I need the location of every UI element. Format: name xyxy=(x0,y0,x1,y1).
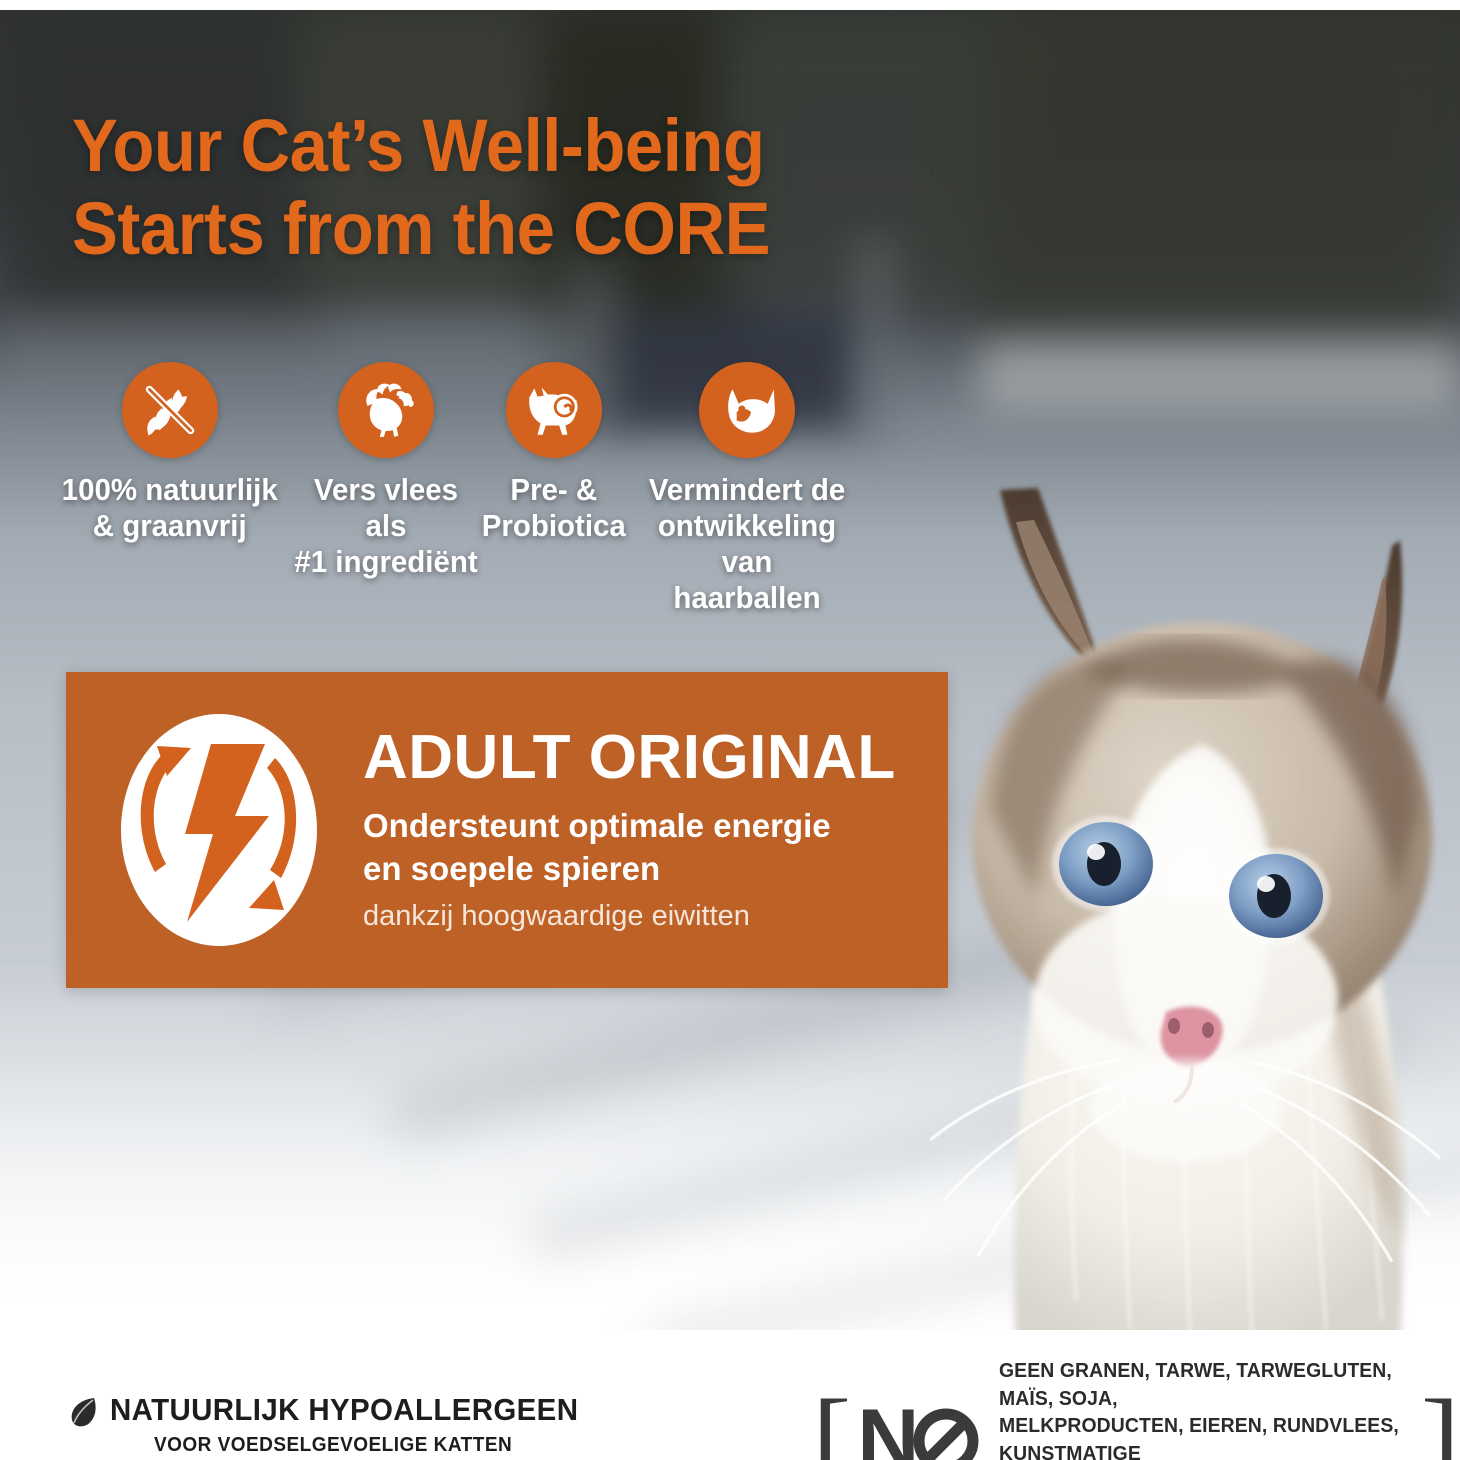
feature-item-fresh-meat: Vers vlees als #1 ingrediënt xyxy=(288,362,484,580)
feature-icon-badge xyxy=(699,362,795,458)
feature-item-hairball: Vermindert de ontwikkeling van haarballe… xyxy=(624,362,870,616)
turkey-icon xyxy=(353,377,419,443)
no-list-line-2: MELKPRODUCTEN, EIEREN, RUNDVLEES, KUNSTM… xyxy=(999,1413,1408,1460)
feature-item-probiotics: Pre- & Probiotica xyxy=(484,362,624,544)
feature-list: 100% natuurlijk & graanvrij xyxy=(52,362,1012,616)
cat-digestion-icon xyxy=(521,377,587,443)
feature-label: Vermindert de ontwikkeling van haarballe… xyxy=(630,472,864,616)
no-letter-n: N xyxy=(857,1404,917,1460)
feature-icon-badge xyxy=(122,362,218,458)
banner-logo xyxy=(119,712,319,948)
bracket-right: ] xyxy=(1421,1391,1460,1460)
banner-subtitle-line-2: en soepele spieren xyxy=(363,848,896,891)
bracket-left: [ xyxy=(812,1391,851,1460)
prohibition-icon xyxy=(913,1408,979,1460)
headline: Your Cat’s Well-being Starts from the CO… xyxy=(72,105,972,271)
banner-subtitle-line-1: Ondersteunt optimale energie xyxy=(363,805,896,848)
headline-line-1: Your Cat’s Well-being xyxy=(72,105,909,188)
hypoallergenic-title: NATUURLIJK HYPOALLERGEEN xyxy=(110,1392,578,1428)
feature-label: Vers vlees als #1 ingrediënt xyxy=(293,472,479,580)
leaf-icon xyxy=(68,1396,98,1430)
banner-note: dankzij hoogwaardige eiwitten xyxy=(363,900,896,933)
hairball-cat-icon xyxy=(714,377,780,443)
ad-canvas: Your Cat’s Well-being Starts from the CO… xyxy=(0,0,1460,1460)
no-logo: N xyxy=(857,1404,979,1460)
feature-label: 100% natuurlijk & graanvrij xyxy=(62,472,278,544)
banner-title: ADULT ORIGINAL xyxy=(363,727,896,789)
hypoallergenic-subtitle: VOOR VOEDSELGEVOELIGE KATTEN xyxy=(154,1434,512,1457)
no-ingredients-list: GEEN GRANEN, TARWE, TARWEGLUTEN, MAÏS, S… xyxy=(999,1358,1420,1460)
feature-label: Pre- & Probiotica xyxy=(482,472,626,544)
no-list-line-1: GEEN GRANEN, TARWE, TARWEGLUTEN, MAÏS, S… xyxy=(999,1358,1408,1413)
blur-shape xyxy=(980,10,1460,330)
hypoallergenic-block: NATUURLIJK HYPOALLERGEEN xyxy=(68,1392,603,1430)
no-ingredients-badge: [ N GEEN GRANEN, TARWE, TARWEGLUTEN, MAÏ… xyxy=(812,1358,1460,1460)
grain-free-icon xyxy=(137,377,203,443)
feature-icon-badge xyxy=(506,362,602,458)
energy-bolt-cycle-icon xyxy=(119,712,319,948)
product-banner: ADULT ORIGINAL Ondersteunt optimale ener… xyxy=(66,672,948,988)
banner-text: ADULT ORIGINAL Ondersteunt optimale ener… xyxy=(363,727,896,933)
feature-icon-badge xyxy=(338,362,434,458)
headline-line-2: Starts from the CORE xyxy=(72,188,909,271)
feature-item-grain-free: 100% natuurlijk & graanvrij xyxy=(52,362,288,544)
footer: NATUURLIJK HYPOALLERGEEN VOOR VOEDSELGEV… xyxy=(0,1330,1460,1460)
